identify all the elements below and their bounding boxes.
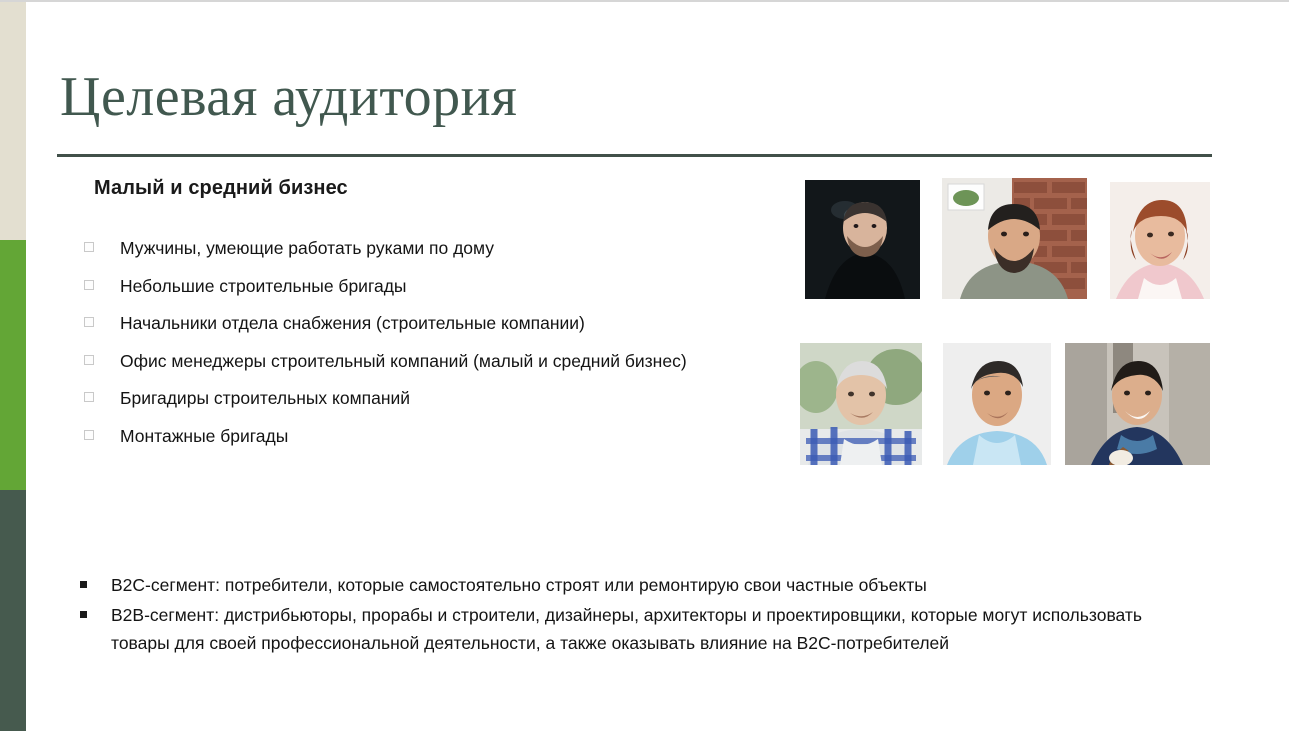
photo-woman-pink-shirt	[1110, 182, 1210, 299]
list-item: Мужчины, умеющие работать руками по дому	[84, 235, 704, 262]
list-item: Начальники отдела снабжения (строительны…	[84, 310, 704, 337]
audience-list: Мужчины, умеющие работать руками по дому…	[84, 235, 704, 461]
top-edge-rule	[0, 0, 1289, 2]
list-item: B2B-сегмент: дистрибьюторы, прорабы и ст…	[80, 602, 1200, 657]
list-item-label: B2B-сегмент: дистрибьюторы, прорабы и ст…	[111, 602, 1200, 657]
hollow-square-bullet-icon	[84, 280, 94, 290]
list-item-label: Мужчины, умеющие работать руками по дому	[120, 235, 494, 262]
segment-list: B2C-сегмент: потребители, которые самост…	[80, 572, 1200, 660]
list-item-label: Монтажные бригады	[120, 423, 288, 450]
title-divider	[57, 154, 1212, 157]
photo-man-brick-wall	[942, 178, 1087, 299]
hollow-square-bullet-icon	[84, 430, 94, 440]
section-heading: Малый и средний бизнес	[94, 177, 348, 200]
page-title: Целевая аудитория	[60, 68, 517, 127]
list-item: Бригадиры строительных компаний	[84, 385, 704, 412]
list-item: Офис менеджеры строительный компаний (ма…	[84, 348, 704, 375]
photo-man-blue-shirt	[943, 343, 1051, 465]
hollow-square-bullet-icon	[84, 242, 94, 252]
slide-canvas: Целевая аудитория Малый и средний бизнес…	[0, 0, 1289, 731]
hollow-square-bullet-icon	[84, 392, 94, 402]
list-item-label: Офис менеджеры строительный компаний (ма…	[120, 348, 687, 375]
list-item: B2C-сегмент: потребители, которые самост…	[80, 572, 1200, 599]
hollow-square-bullet-icon	[84, 355, 94, 365]
list-item-label: Начальники отдела снабжения (строительны…	[120, 310, 585, 337]
photo-young-man-navy	[1065, 343, 1210, 465]
photo-bearded-man-dark	[805, 180, 920, 299]
list-item-label: Небольшие строительные бригады	[120, 273, 406, 300]
filled-square-bullet-icon	[80, 611, 87, 618]
photo-elderly-man-plaid	[800, 343, 922, 465]
hollow-square-bullet-icon	[84, 317, 94, 327]
list-item-label: Бригадиры строительных компаний	[120, 385, 410, 412]
sidebar-band-dark-green	[0, 490, 26, 731]
filled-square-bullet-icon	[80, 581, 87, 588]
sidebar-band-beige	[0, 2, 26, 240]
list-item-label: B2C-сегмент: потребители, которые самост…	[111, 572, 927, 599]
list-item: Монтажные бригады	[84, 423, 704, 450]
sidebar-band-green	[0, 240, 26, 490]
list-item: Небольшие строительные бригады	[84, 273, 704, 300]
